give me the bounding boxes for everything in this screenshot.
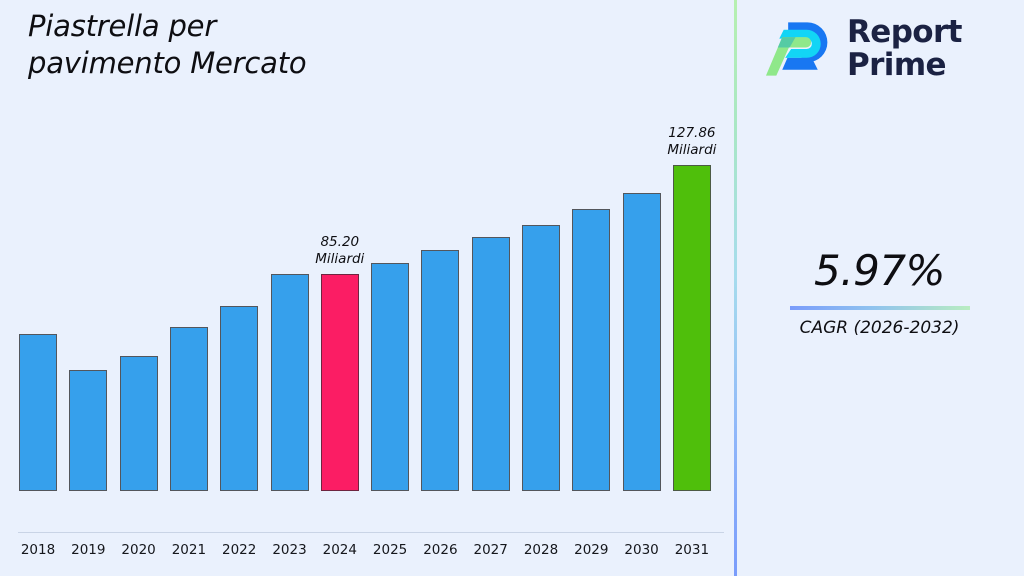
bar-2031: 127.86 Miliardi — [673, 165, 711, 491]
bar-rect-2027 — [472, 237, 510, 491]
bar-2024: 85.20 Miliardi — [321, 274, 359, 491]
bar-2020 — [120, 356, 158, 491]
cagr-value: 5.97% — [735, 250, 1024, 292]
bar-2026 — [421, 250, 459, 491]
bar-rect-2028 — [522, 225, 560, 491]
cagr-label: CAGR (2026-2032) — [735, 318, 1024, 338]
bar-2025 — [371, 263, 409, 491]
bar-rect-2030 — [623, 193, 661, 491]
bar-rect-2023 — [271, 274, 309, 491]
bar-2022 — [220, 306, 258, 491]
x-tick-2031: 2031 — [663, 542, 721, 558]
x-tick-2022: 2022 — [210, 542, 268, 558]
bar-rect-2026 — [421, 250, 459, 491]
bar-2023 — [271, 274, 309, 491]
bar-2019 — [69, 370, 107, 491]
side-panel: Report Prime 5.97% CAGR (2026-2032) — [735, 0, 1024, 576]
cagr-divider-rule — [790, 306, 970, 310]
bar-2029 — [572, 209, 610, 491]
bar-rect-2022 — [220, 306, 258, 491]
x-tick-2019: 2019 — [59, 542, 117, 558]
chart-panel: Piastrella per pavimento Mercato 85.20 M… — [0, 0, 735, 576]
bar-rect-2018 — [19, 334, 57, 491]
x-axis-tick-labels: 2018201920202021202220232024202520262027… — [0, 534, 735, 576]
x-tick-2027: 2027 — [462, 542, 520, 558]
bar-rect-2024 — [321, 274, 359, 491]
report-prime-logo: Report Prime — [763, 12, 962, 86]
x-tick-2023: 2023 — [261, 542, 319, 558]
bar-rect-2020 — [120, 356, 158, 491]
logo-wordmark: Report Prime — [847, 16, 962, 83]
x-tick-2030: 2030 — [613, 542, 671, 558]
bar-2021 — [170, 327, 208, 491]
x-tick-2021: 2021 — [160, 542, 218, 558]
bar-value-label-2031: 127.86 Miliardi — [646, 125, 738, 159]
cagr-block: 5.97% CAGR (2026-2032) — [735, 250, 1024, 338]
x-tick-2024: 2024 — [311, 542, 369, 558]
bar-rect-2021 — [170, 327, 208, 491]
x-tick-2026: 2026 — [411, 542, 469, 558]
bar-2030 — [623, 193, 661, 491]
bar-rect-2031 — [673, 165, 711, 491]
bar-rect-2019 — [69, 370, 107, 491]
x-tick-2029: 2029 — [562, 542, 620, 558]
report-prime-logo-mark-icon — [763, 12, 837, 86]
infographic-page: Piastrella per pavimento Mercato 85.20 M… — [0, 0, 1024, 576]
bar-2018 — [19, 334, 57, 491]
bar-2028 — [522, 225, 560, 491]
x-tick-2028: 2028 — [512, 542, 570, 558]
bar-chart-plot-area: 85.20 Miliardi127.86 Miliardi — [0, 0, 735, 534]
bar-rect-2029 — [572, 209, 610, 491]
x-tick-2025: 2025 — [361, 542, 419, 558]
bar-2027 — [472, 237, 510, 491]
x-axis-baseline — [18, 532, 724, 533]
x-tick-2018: 2018 — [9, 542, 67, 558]
bar-rect-2025 — [371, 263, 409, 491]
x-tick-2020: 2020 — [110, 542, 168, 558]
